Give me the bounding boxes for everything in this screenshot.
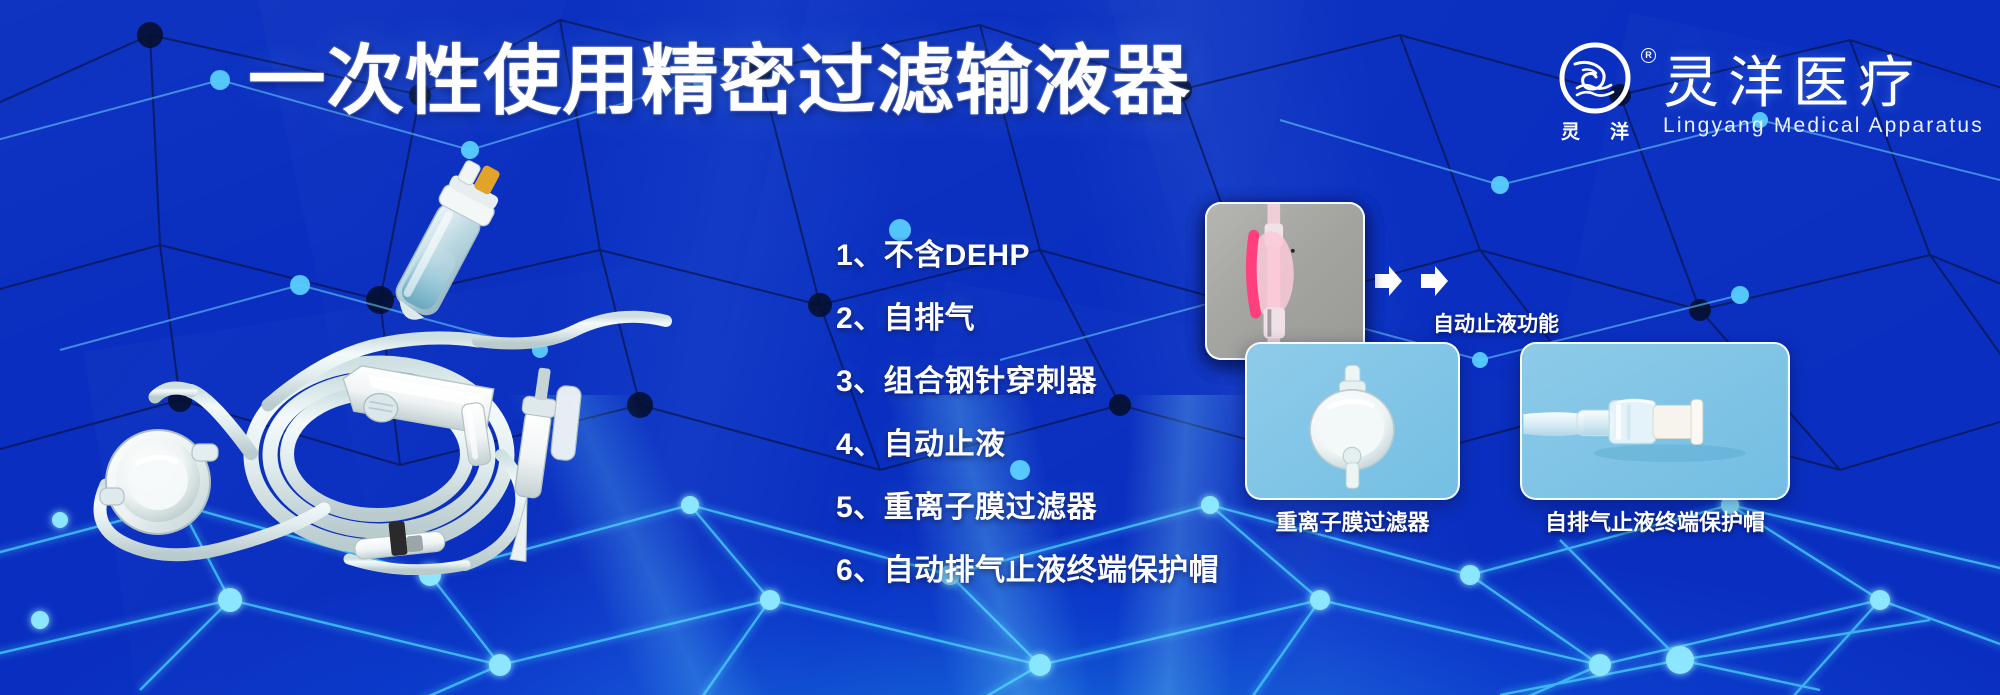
logo-mark-char-right: 洋 [1610, 117, 1629, 144]
banner-root: 一次性使用精密过滤输液器 R 灵 洋 灵洋医疗 Lingyang Medical… [0, 0, 2000, 695]
registered-trademark-icon: R [1641, 48, 1656, 63]
brand-name-cn: 灵洋医疗 [1663, 54, 1984, 113]
cap-photo-caption: 自排气止液终端保护帽 [1480, 505, 1830, 537]
logo-mark-label: 灵 洋 [1561, 117, 1629, 144]
page-title: 一次性使用精密过滤输液器 [248, 44, 1190, 120]
brand-text: 灵洋医疗 Lingyang Medical Apparatus [1663, 54, 1984, 139]
sequence-arrow-icon-2 [1411, 264, 1457, 298]
feature-item: 3、组合钢针穿刺器 [836, 350, 1219, 413]
feature-item: 1、不含DEHP [836, 224, 1219, 287]
sequence-caption: 自动止液功能 [1205, 308, 1787, 338]
feature-item: 2、自排气 [836, 287, 1219, 350]
logo-emblem-icon [1559, 42, 1631, 114]
brand-name-en: Lingyang Medical Apparatus [1663, 114, 1984, 138]
cap-photo-panel [1520, 342, 1790, 500]
filter-photo-caption: 重离子膜过滤器 [1245, 505, 1460, 537]
feature-item: 4、自动止液 [836, 413, 1219, 476]
feature-list: 1、不含DEHP 2、自排气 3、组合钢针穿刺器 4、自动止液 5、重离子膜过滤… [836, 224, 1219, 602]
sequence-arrow-icon-1 [1365, 264, 1411, 298]
feature-item: 6、自动排气止液终端保护帽 [836, 539, 1219, 602]
brand-logo: R 灵 洋 灵洋医疗 Lingyang Medical Apparatus [1547, 42, 1984, 150]
logo-mark: R 灵 洋 [1547, 42, 1643, 150]
feature-item: 5、重离子膜过滤器 [836, 476, 1219, 539]
filter-photo-panel [1245, 342, 1460, 500]
logo-mark-char-left: 灵 [1561, 117, 1580, 144]
product-photo [46, 155, 706, 575]
